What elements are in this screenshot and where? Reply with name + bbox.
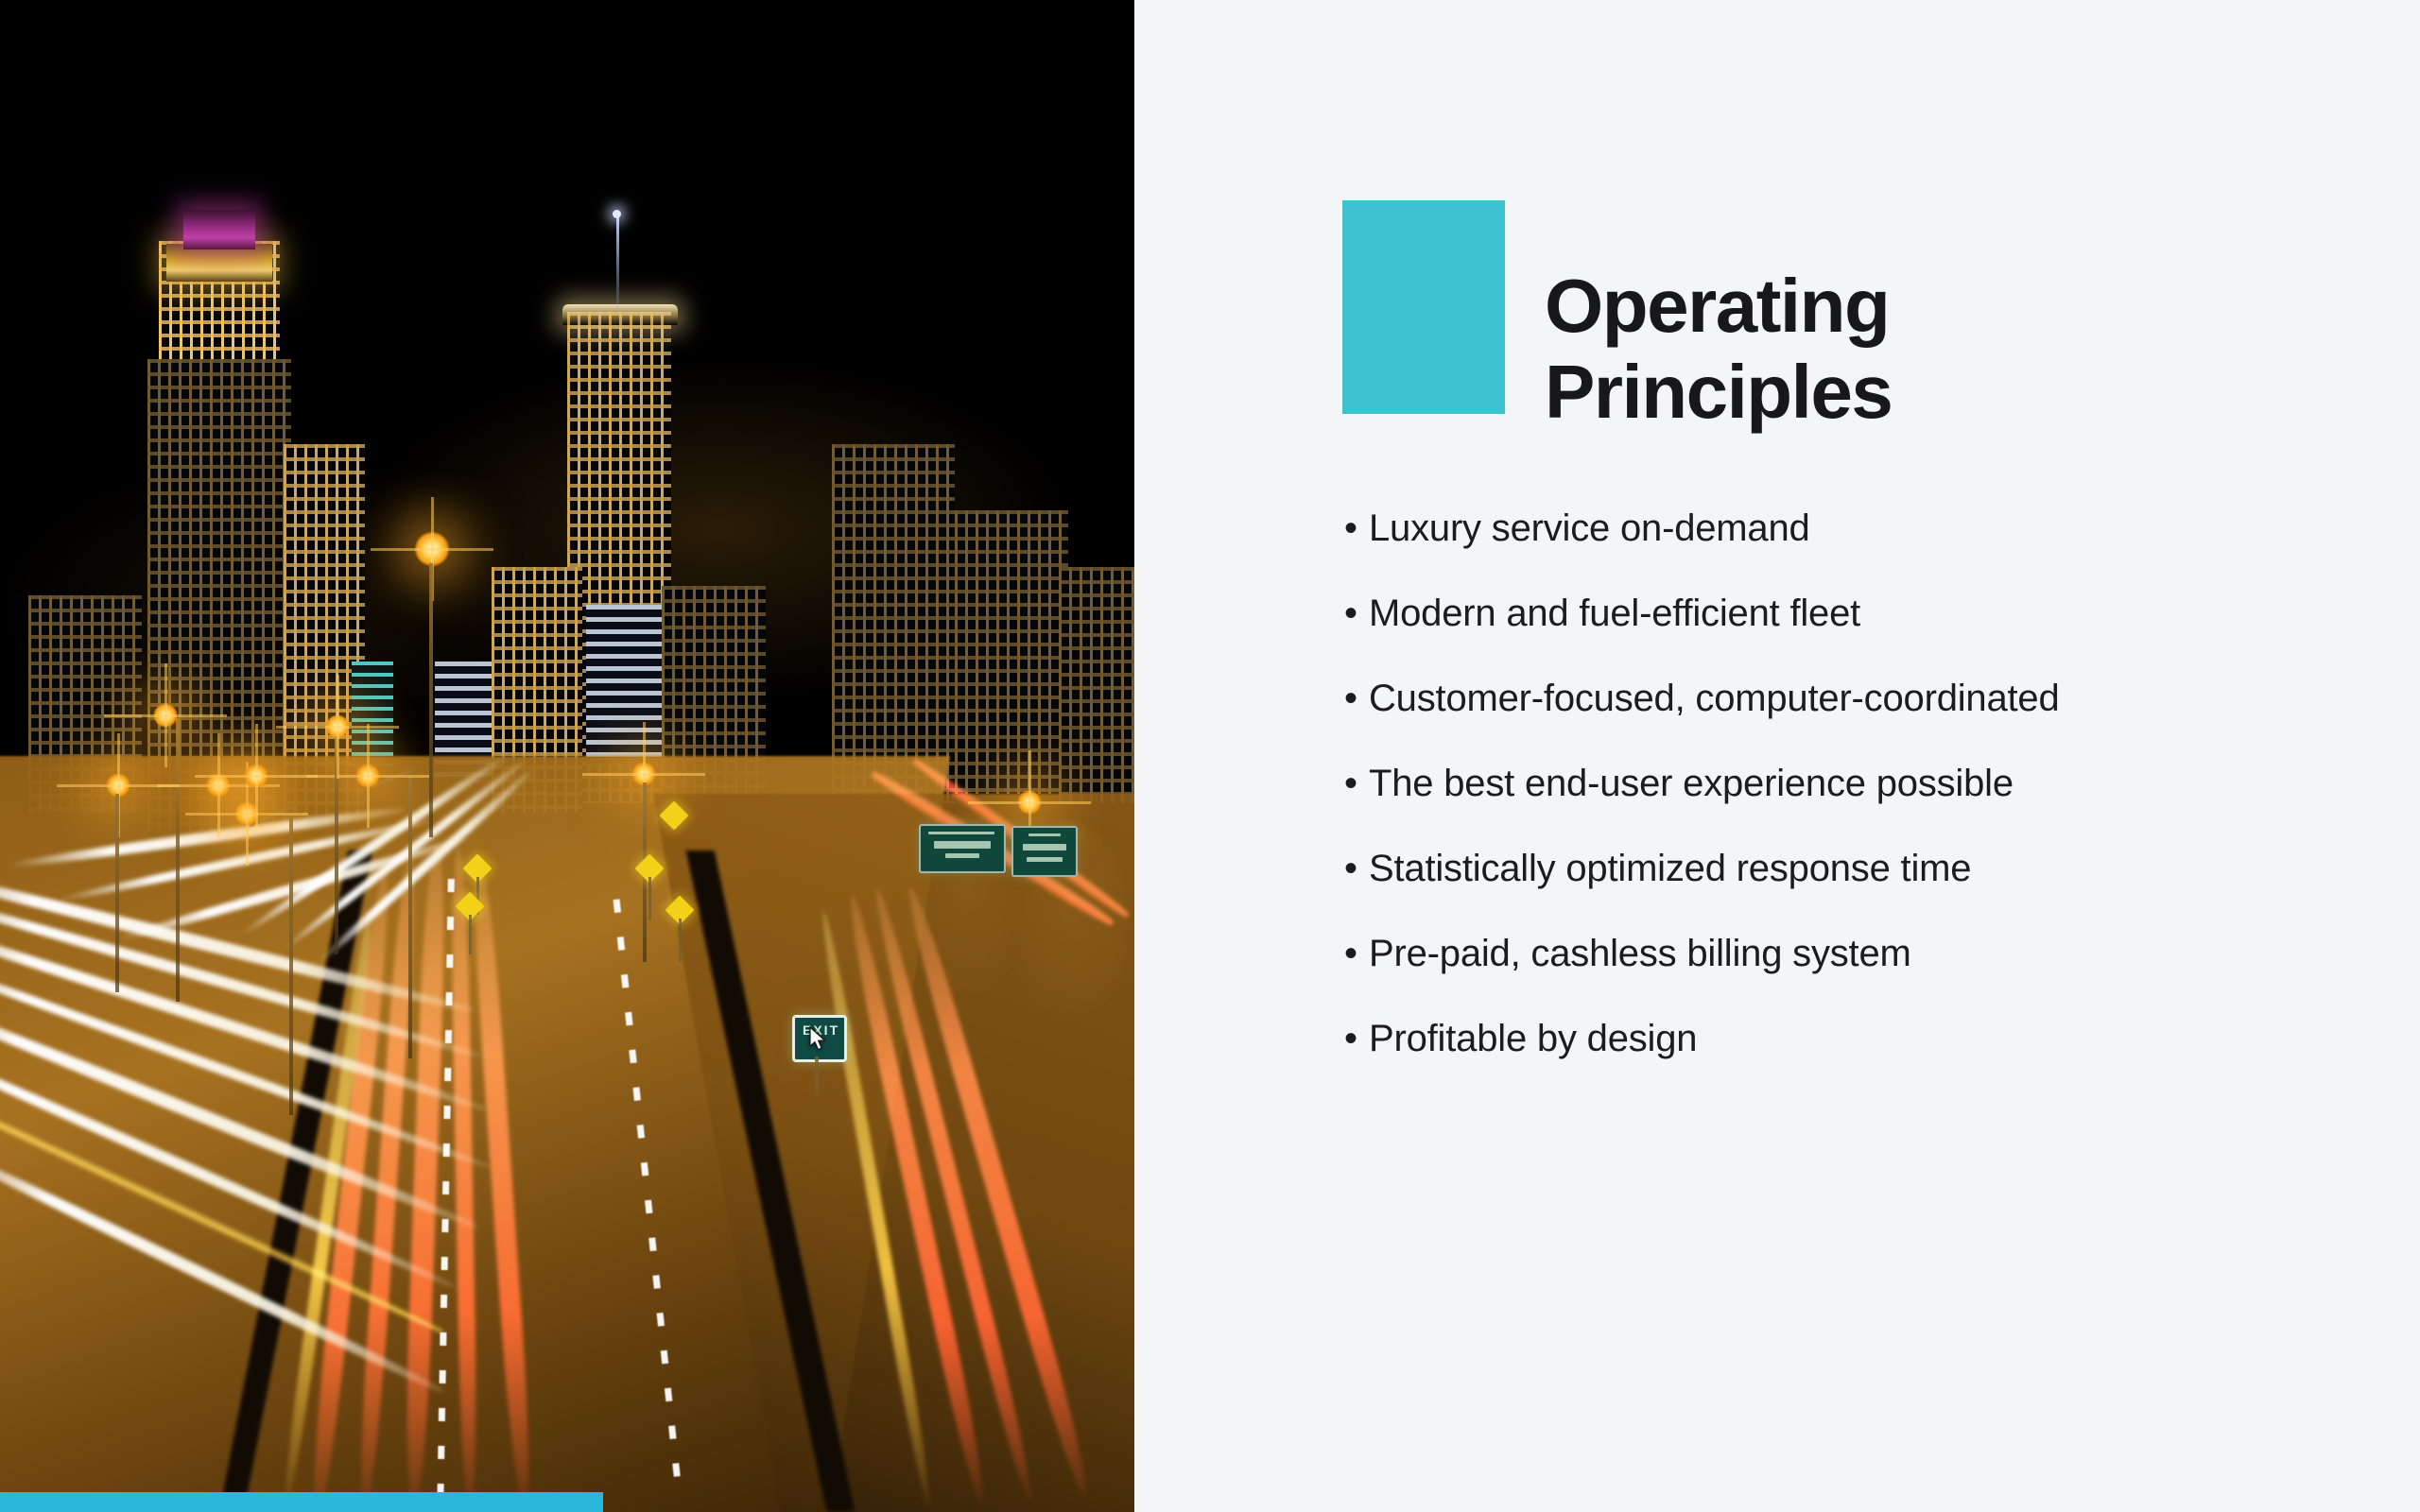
lamp-pole-1: [289, 813, 293, 1115]
tower-right-beacon-icon: [613, 210, 621, 218]
building-teal-windows: [352, 661, 393, 765]
warning-sign-post-5: [679, 919, 682, 962]
lamp-pole-tall-center: [429, 563, 433, 837]
sign-line-sub: [945, 853, 979, 858]
list-item-label: Pre-paid, cashless billing system: [1369, 928, 2214, 979]
sign-line-main: [934, 841, 991, 849]
warning-sign-post-4: [648, 877, 651, 920]
title-accent-block: [1342, 200, 1505, 414]
operating-principles-list: • Luxury service on-demand • Modern and …: [1344, 503, 2214, 1098]
tower-left-purple-crown: [183, 210, 255, 249]
bullet-marker-icon: •: [1344, 1013, 1369, 1064]
lamp-pole-2: [408, 775, 412, 1058]
list-item: • Customer-focused, computer-coordinated: [1344, 673, 2214, 724]
list-item: • Modern and fuel-efficient fleet: [1344, 588, 2214, 639]
slide-root: EXIT Operating Principles • Luxury servi…: [0, 0, 2420, 1512]
sign-line-small: [928, 832, 994, 834]
tower-right-spire: [616, 217, 619, 310]
list-item-label: The best end-user experience possible: [1369, 758, 2214, 809]
street-lamp-2: [355, 764, 380, 788]
title-row: Operating Principles: [1342, 200, 1892, 486]
street-lamp-tall-center: [414, 531, 450, 567]
list-item-label: Luxury service on-demand: [1369, 503, 2214, 554]
tower-left-gold-crown: [166, 244, 272, 282]
bullet-marker-icon: •: [1344, 503, 1369, 554]
building-white-slab: [586, 605, 671, 765]
building-far-right-b: [1059, 567, 1134, 803]
photo-canvas: EXIT: [0, 0, 1134, 1512]
list-item-label: Modern and fuel-efficient fleet: [1369, 588, 2214, 639]
building-far-right-a: [955, 510, 1068, 794]
warning-sign-post-2: [469, 915, 472, 954]
list-item: • Statistically optimized response time: [1344, 843, 2214, 894]
mouse-cursor-icon: [809, 1026, 830, 1053]
lamp-pole-5: [115, 794, 119, 992]
street-lamp-4: [325, 714, 350, 739]
page-title: Operating Principles: [1545, 251, 1892, 435]
lamp-pole-3: [176, 718, 180, 1002]
list-item-label: Profitable by design: [1369, 1013, 2214, 1064]
list-item: • Profitable by design: [1344, 1013, 2214, 1064]
highway-sign-left: [919, 824, 1006, 873]
bullet-marker-icon: •: [1344, 928, 1369, 979]
sign-line-small-b: [1028, 833, 1061, 836]
street-lamp-7: [244, 764, 268, 788]
list-item: • Pre-paid, cashless billing system: [1344, 928, 2214, 979]
bottom-accent-bar: [0, 1492, 603, 1512]
bullet-marker-icon: •: [1344, 843, 1369, 894]
bullet-marker-icon: •: [1344, 758, 1369, 809]
sign-line-sub-b: [1027, 857, 1063, 862]
bullet-marker-icon: •: [1344, 673, 1369, 724]
list-item: • Luxury service on-demand: [1344, 503, 2214, 554]
street-lamp-9: [1017, 790, 1042, 815]
street-lamp-3: [153, 703, 178, 728]
list-item: • The best end-user experience possible: [1344, 758, 2214, 809]
content-panel: Operating Principles • Luxury service on…: [1134, 0, 2420, 1512]
building-right-mid: [832, 444, 955, 803]
tower-right-crown: [562, 304, 678, 325]
exit-sign-post: [815, 1057, 819, 1094]
bullet-marker-icon: •: [1344, 588, 1369, 639]
sign-line-main-b: [1023, 844, 1066, 850]
list-item-label: Statistically optimized response time: [1369, 843, 2214, 894]
cityscape-photo: EXIT: [0, 0, 1134, 1512]
list-item-label: Customer-focused, computer-coordinated: [1369, 673, 2214, 724]
highway-sign-right: [1011, 826, 1078, 877]
